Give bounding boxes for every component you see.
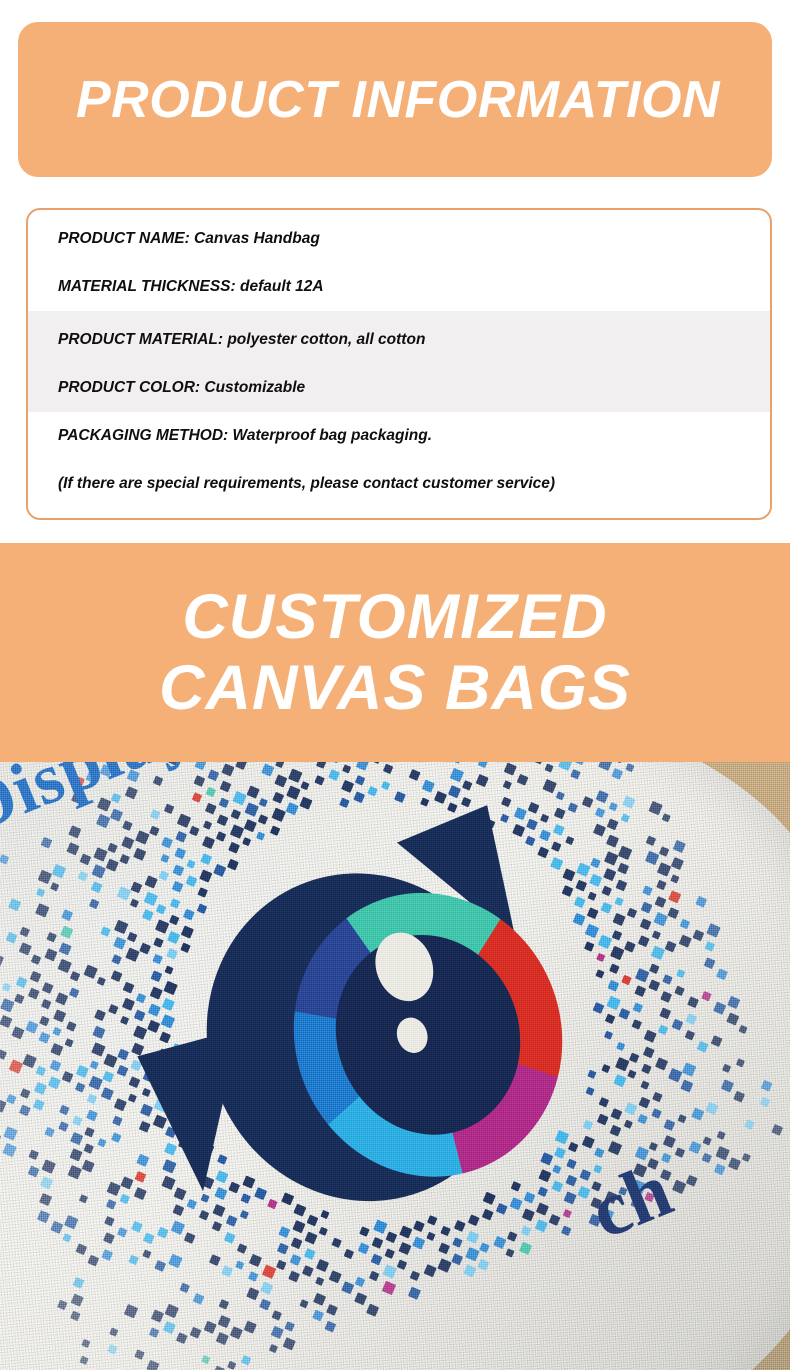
mosaic-tile xyxy=(685,1013,697,1025)
mosaic-tile xyxy=(481,1209,493,1221)
mosaic-tile xyxy=(164,1304,178,1318)
mosaic-tile xyxy=(642,886,652,896)
mosaic-tile xyxy=(149,1327,159,1337)
mosaic-tile xyxy=(672,1180,686,1194)
mosaic-tile xyxy=(370,762,382,765)
mosaic-tile xyxy=(727,996,740,1009)
mosaic-tile xyxy=(551,1181,563,1193)
mosaic-tile xyxy=(622,796,635,809)
mosaic-tile xyxy=(259,798,269,808)
mosaic-tile xyxy=(621,814,630,823)
table-row: PACKAGING METHOD: Waterproof bag packagi… xyxy=(28,412,770,460)
mosaic-tile xyxy=(315,1277,325,1287)
mosaic-tile xyxy=(465,1247,479,1261)
mosaic-tile xyxy=(641,1064,652,1075)
mosaic-tile xyxy=(562,1209,572,1219)
mosaic-tile xyxy=(383,1264,397,1278)
mosaic-tile xyxy=(548,1214,560,1226)
mosaic-tile xyxy=(27,1166,39,1178)
mosaic-tile xyxy=(449,768,463,782)
mosaic-tile xyxy=(217,814,228,825)
mosaic-tile xyxy=(8,898,21,911)
mosaic-tile xyxy=(354,1292,367,1305)
mosaic-tile xyxy=(565,836,574,845)
mosaic-tile xyxy=(504,762,518,776)
mosaic-tile xyxy=(584,941,594,951)
mosaic-tile xyxy=(649,963,659,973)
mosaic-tile xyxy=(133,848,146,861)
mosaic-tile xyxy=(509,1197,522,1210)
mosaic-tile xyxy=(92,1026,106,1040)
mosaic-tile xyxy=(672,840,685,853)
mosaic-tile xyxy=(37,870,51,884)
mosaic-tile xyxy=(302,1265,314,1277)
mosaic-tile xyxy=(131,882,142,893)
mosaic-tile xyxy=(19,927,30,938)
mosaic-tile xyxy=(29,1150,39,1160)
mosaic-tile xyxy=(11,1026,24,1039)
mosaic-tile xyxy=(658,1025,669,1036)
mosaic-tile xyxy=(213,864,226,877)
mosaic-tile xyxy=(638,1097,650,1109)
mosaic-tile xyxy=(40,1176,54,1190)
mosaic-tile xyxy=(106,859,120,873)
mosaic-tile xyxy=(79,1356,88,1365)
mosaic-tile xyxy=(502,780,511,789)
mosaic-tile xyxy=(623,1120,632,1129)
table-row: MATERIAL THICKNESS: default 12A xyxy=(28,263,770,311)
mosaic-tile xyxy=(588,892,597,901)
mosaic-tile xyxy=(675,1147,685,1157)
mosaic-tile xyxy=(561,885,573,897)
mosaic-tile xyxy=(146,1360,160,1370)
mosaic-tile xyxy=(668,1068,682,1082)
mosaic-tile xyxy=(437,1258,451,1272)
mosaic-tile xyxy=(189,1327,200,1338)
mosaic-tile xyxy=(370,1254,382,1266)
mosaic-tile xyxy=(0,1133,1,1145)
mosaic-tile xyxy=(143,1232,154,1243)
mosaic-tile xyxy=(384,1249,394,1259)
mosaic-tile xyxy=(608,802,618,812)
mosaic-tile xyxy=(269,1344,278,1353)
mosaic-tile xyxy=(662,974,673,985)
mosaic-tile xyxy=(761,1080,772,1091)
mosaic-tile xyxy=(572,762,586,765)
mosaic-tile xyxy=(678,935,691,948)
mosaic-tile xyxy=(134,1171,146,1183)
mosaic-tile xyxy=(44,1127,55,1138)
promo-headline-line-1: CUSTOMIZED xyxy=(182,584,607,650)
mosaic-tile xyxy=(213,1366,225,1370)
mosaic-tile xyxy=(241,1355,251,1365)
mosaic-tile xyxy=(537,1187,547,1197)
mosaic-tile xyxy=(175,831,187,843)
mosaic-tile xyxy=(174,848,186,860)
mosaic-tile xyxy=(107,1344,118,1355)
mosaic-tile xyxy=(733,1091,745,1103)
mosaic-tile xyxy=(142,1250,152,1260)
mosaic-tile xyxy=(477,762,488,769)
mosaic-tile xyxy=(175,1332,187,1344)
mosaic-tile xyxy=(66,1021,76,1031)
mosaic-tile xyxy=(107,1182,121,1196)
mosaic-tile xyxy=(172,1204,183,1215)
mosaic-tile xyxy=(641,902,653,914)
mosaic-tile xyxy=(218,1299,229,1310)
mosaic-tile xyxy=(495,1203,507,1215)
mosaic-tile xyxy=(550,857,563,870)
mosaic-tile xyxy=(74,1082,85,1093)
table-row: PRODUCT COLOR: Customizable xyxy=(28,364,770,412)
mosaic-tile xyxy=(232,791,246,805)
mosaic-tile xyxy=(203,821,212,830)
mosaic-tile xyxy=(613,1074,627,1088)
mosaic-tile xyxy=(614,897,623,906)
mosaic-tile xyxy=(90,1060,100,1070)
mosaic-tile xyxy=(117,1049,129,1061)
mosaic-tile xyxy=(168,1254,182,1268)
mosaic-tile xyxy=(127,1094,136,1103)
mosaic-tile xyxy=(201,1355,211,1365)
mosaic-tile xyxy=(555,791,564,800)
mosaic-tile xyxy=(662,1135,676,1149)
mosaic-tile xyxy=(701,991,712,1002)
mosaic-tile xyxy=(68,1165,82,1179)
mosaic-tile xyxy=(136,1154,149,1167)
mosaic-tile xyxy=(256,831,265,840)
mosaic-tile xyxy=(299,797,312,810)
mosaic-tile xyxy=(634,985,646,997)
mosaic-tile xyxy=(271,1310,282,1321)
mosaic-tile xyxy=(130,1221,142,1233)
mosaic-tile xyxy=(6,932,18,944)
mosaic-tile xyxy=(243,819,256,832)
mosaic-tile xyxy=(70,1311,81,1322)
mosaic-tile xyxy=(228,842,240,854)
mosaic-tile xyxy=(193,775,205,787)
mosaic-tile xyxy=(259,1299,270,1310)
mosaic-tile xyxy=(274,775,287,788)
mosaic-tile xyxy=(645,851,659,865)
mosaic-tile xyxy=(713,1002,726,1015)
mosaic-tile xyxy=(653,912,667,926)
mosaic-tile xyxy=(28,988,39,999)
mosaic-tile xyxy=(722,1064,732,1074)
mosaic-tile xyxy=(397,1259,408,1270)
mosaic-tile xyxy=(726,1013,739,1026)
mosaic-tile xyxy=(598,762,612,771)
mosaic-tile xyxy=(18,942,32,956)
table-row: (If there are special requirements, plea… xyxy=(28,460,770,508)
mosaic-tile xyxy=(0,1049,6,1059)
mosaic-tile xyxy=(507,1231,517,1241)
mosaic-tile xyxy=(68,825,81,838)
mosaic-tile xyxy=(615,1057,629,1071)
mosaic-tile xyxy=(398,1242,411,1255)
customized-canvas-bags-banner: CUSTOMIZED CANVAS BAGS xyxy=(0,543,790,762)
mosaic-tile xyxy=(50,1221,64,1235)
mosaic-tile xyxy=(409,769,421,781)
mosaic-tile xyxy=(604,851,618,865)
table-row: PRODUCT MATERIAL: polyester cotton, all … xyxy=(28,316,770,364)
mosaic-tile xyxy=(440,1226,451,1237)
mosaic-tile xyxy=(463,1264,476,1277)
mosaic-tile xyxy=(594,808,605,819)
mosaic-tile xyxy=(491,762,502,763)
mosaic-tile xyxy=(742,1153,751,1162)
mosaic-tile xyxy=(624,941,636,953)
mosaic-tile xyxy=(600,902,611,913)
mosaic-tile xyxy=(145,875,158,888)
mosaic-tile xyxy=(448,785,461,798)
mosaic-tile xyxy=(711,1035,723,1047)
mosaic-tile xyxy=(179,1283,190,1294)
mosaic-tile xyxy=(103,1232,115,1244)
mosaic-tile xyxy=(246,1287,259,1300)
mosaic-tile xyxy=(119,854,129,864)
mosaic-tile xyxy=(606,996,620,1010)
mosaic-tile xyxy=(525,836,535,846)
mosaic-tile xyxy=(695,896,707,908)
mosaic-tile xyxy=(715,1146,729,1160)
mosaic-tile xyxy=(135,830,149,844)
mosaic-tile xyxy=(522,1208,535,1221)
mosaic-tile xyxy=(687,997,698,1008)
mosaic-tile xyxy=(288,769,302,783)
mosaic-tile xyxy=(185,875,197,887)
mosaic-tile xyxy=(230,1326,243,1339)
promo-headline-line-2: CANVAS BAGS xyxy=(159,655,631,721)
mosaic-tile xyxy=(2,1143,16,1157)
mosaic-tile xyxy=(260,1282,273,1295)
mosaic-tile xyxy=(0,1015,12,1028)
mosaic-tile xyxy=(112,1116,123,1127)
mosaic-tile xyxy=(58,1121,69,1132)
mosaic-tile xyxy=(150,809,161,820)
mosaic-tile xyxy=(88,1076,102,1090)
mosaic-tile xyxy=(57,959,71,973)
mosaic-tile xyxy=(539,830,551,842)
mosaic-tile xyxy=(62,1233,72,1243)
mosaic-tile xyxy=(659,1008,671,1020)
mosaic-tile xyxy=(218,798,229,809)
mosaic-tile xyxy=(667,907,679,919)
mosaic-tile xyxy=(342,764,351,773)
mosaic-tile xyxy=(199,870,212,883)
mosaic-tile xyxy=(286,785,300,799)
mosaic-tile xyxy=(738,1025,747,1034)
mosaic-tile xyxy=(2,983,11,992)
mosaic-tile xyxy=(50,1043,63,1056)
mosaic-tile xyxy=(172,864,184,876)
mosaic-tile xyxy=(78,871,88,881)
mosaic-tile xyxy=(79,854,91,866)
mosaic-tile xyxy=(81,1339,90,1348)
mosaic-tile xyxy=(0,854,9,865)
mosaic-tile xyxy=(574,896,586,908)
mosaic-tile xyxy=(328,769,340,781)
mosaic-tile xyxy=(613,913,626,926)
mosaic-tile xyxy=(454,1220,465,1231)
mosaic-tile xyxy=(154,1260,166,1272)
mosaic-tile xyxy=(714,1163,726,1175)
mosaic-tile xyxy=(531,762,544,765)
mosaic-tile xyxy=(468,1215,479,1226)
mosaic-tile xyxy=(621,975,631,985)
mosaic-tile xyxy=(107,843,117,853)
mosaic-tile xyxy=(564,1191,577,1204)
mosaic-tile xyxy=(408,1287,421,1300)
mosaic-tile xyxy=(107,1004,118,1015)
mosaic-tile xyxy=(633,1002,644,1013)
mosaic-tile xyxy=(299,1299,309,1309)
mosaic-tile xyxy=(101,1087,114,1100)
mosaic-tile xyxy=(38,1032,50,1044)
mosaic-tile xyxy=(716,968,728,980)
mosaic-tile xyxy=(426,1232,435,1241)
mosaic-tile xyxy=(728,1157,742,1171)
mosaic-tile xyxy=(355,1277,365,1287)
mosaic-tile xyxy=(0,954,4,968)
mosaic-tile xyxy=(703,1136,712,1145)
mosaic-tile xyxy=(367,786,378,797)
mosaic-tile xyxy=(207,770,219,782)
mosaic-tile xyxy=(394,791,406,803)
mosaic-tile xyxy=(312,1310,323,1321)
mosaic-tile xyxy=(157,1227,169,1239)
mosaic-tile xyxy=(595,970,605,980)
mosaic-tile xyxy=(617,863,629,875)
mosaic-tile xyxy=(89,899,99,909)
mosaic-tile xyxy=(705,1102,718,1115)
mosaic-tile xyxy=(493,1236,507,1250)
mosaic-tile xyxy=(505,1248,515,1258)
mosaic-tile xyxy=(35,1066,45,1076)
mosaic-tile xyxy=(86,1110,98,1122)
mosaic-tile xyxy=(674,986,685,997)
mosaic-tile xyxy=(597,935,611,949)
mosaic-tile xyxy=(328,1270,341,1283)
mosaic-tile xyxy=(53,1009,66,1022)
mosaic-tile xyxy=(176,814,190,828)
mosaic-tile xyxy=(84,964,98,978)
mosaic-tile xyxy=(771,1124,783,1136)
mosaic-tile xyxy=(313,1293,326,1306)
mosaic-tile xyxy=(215,831,225,841)
mosaic-tile xyxy=(526,819,538,831)
mosaic-tile xyxy=(423,1264,436,1277)
mosaic-tile xyxy=(611,768,623,780)
mosaic-tile xyxy=(138,1121,149,1132)
mosaic-tile xyxy=(29,971,40,982)
mosaic-tile xyxy=(536,1203,550,1217)
mosaic-tile xyxy=(66,842,79,855)
mosaic-tile xyxy=(479,1243,489,1253)
mosaic-tile xyxy=(270,825,281,836)
mosaic-tile xyxy=(596,790,609,803)
mosaic-tile xyxy=(609,964,619,974)
mosaic-tile xyxy=(369,1271,380,1282)
mosaic-tile xyxy=(60,926,73,939)
mosaic-tile xyxy=(19,1105,30,1116)
mosaic-tile xyxy=(122,820,133,831)
mosaic-tile xyxy=(91,1042,105,1056)
mosaic-tile xyxy=(744,1119,754,1129)
mosaic-tile xyxy=(652,930,661,939)
mosaic-tile xyxy=(244,1321,257,1334)
mosaic-tile xyxy=(562,868,575,881)
mosaic-tile xyxy=(31,954,42,965)
mosaic-tile xyxy=(62,1071,74,1083)
mosaic-tile xyxy=(198,887,208,897)
mosaic-tile xyxy=(596,953,605,962)
mosaic-tile xyxy=(701,1153,711,1163)
mosaic-tile xyxy=(586,908,598,920)
mosaic-tile xyxy=(20,1088,31,1099)
mosaic-tile xyxy=(129,1076,141,1088)
mosaic-tile xyxy=(610,946,624,960)
mosaic-tile xyxy=(326,1304,337,1315)
mosaic-tile xyxy=(64,1215,78,1229)
mosaic-tile xyxy=(644,1030,657,1043)
mosaic-tile xyxy=(71,1294,84,1307)
mosaic-tile xyxy=(412,1237,425,1250)
mosaic-tile xyxy=(628,1053,638,1063)
table-row-text: PACKAGING METHOD: Waterproof bag packagi… xyxy=(58,427,432,445)
mosaic-tile xyxy=(83,1144,94,1155)
mosaic-tile xyxy=(57,1300,68,1311)
mosaic-tile xyxy=(161,837,173,849)
mosaic-tile xyxy=(288,1271,300,1283)
table-row-text: (If there are special requirements, plea… xyxy=(58,475,555,493)
mosaic-tile xyxy=(90,881,102,893)
mosaic-tile xyxy=(235,762,247,770)
mosaic-tile xyxy=(219,781,231,793)
mosaic-tile xyxy=(64,1038,74,1048)
mosaic-tile xyxy=(658,846,668,856)
mosaic-tile xyxy=(283,1337,296,1350)
product-photo: to Display t ch xyxy=(0,762,790,1370)
mosaic-tile xyxy=(111,1133,121,1143)
mosaic-tile xyxy=(134,1350,145,1361)
mosaic-tile xyxy=(3,1126,17,1140)
mosaic-tile xyxy=(216,1332,229,1345)
mosaic-tile xyxy=(229,825,243,839)
mosaic-tile xyxy=(585,924,599,938)
mosaic-tile xyxy=(45,948,57,960)
mosaic-tile xyxy=(603,1031,612,1040)
mosaic-tile xyxy=(48,1076,61,1089)
mosaic-tile xyxy=(551,841,561,851)
mosaic-tile xyxy=(40,837,52,849)
mosaic-tile xyxy=(192,792,203,803)
mosaic-tile xyxy=(171,1220,185,1234)
mosaic-tile xyxy=(23,1054,37,1068)
mosaic-tile xyxy=(109,1328,119,1338)
mosaic-tile xyxy=(59,1105,70,1116)
mosaic-tile xyxy=(353,791,365,803)
mosaic-tile xyxy=(656,880,666,890)
mosaic-tile xyxy=(140,1104,154,1118)
mosaic-tile xyxy=(37,1210,50,1223)
mosaic-tile xyxy=(420,797,429,806)
mosaic-tile xyxy=(271,808,285,822)
product-information-title: PRODUCT INFORMATION xyxy=(18,70,772,130)
mosaic-tile xyxy=(651,1108,661,1118)
mosaic-tile xyxy=(650,946,664,960)
mosaic-tile xyxy=(41,1160,55,1174)
